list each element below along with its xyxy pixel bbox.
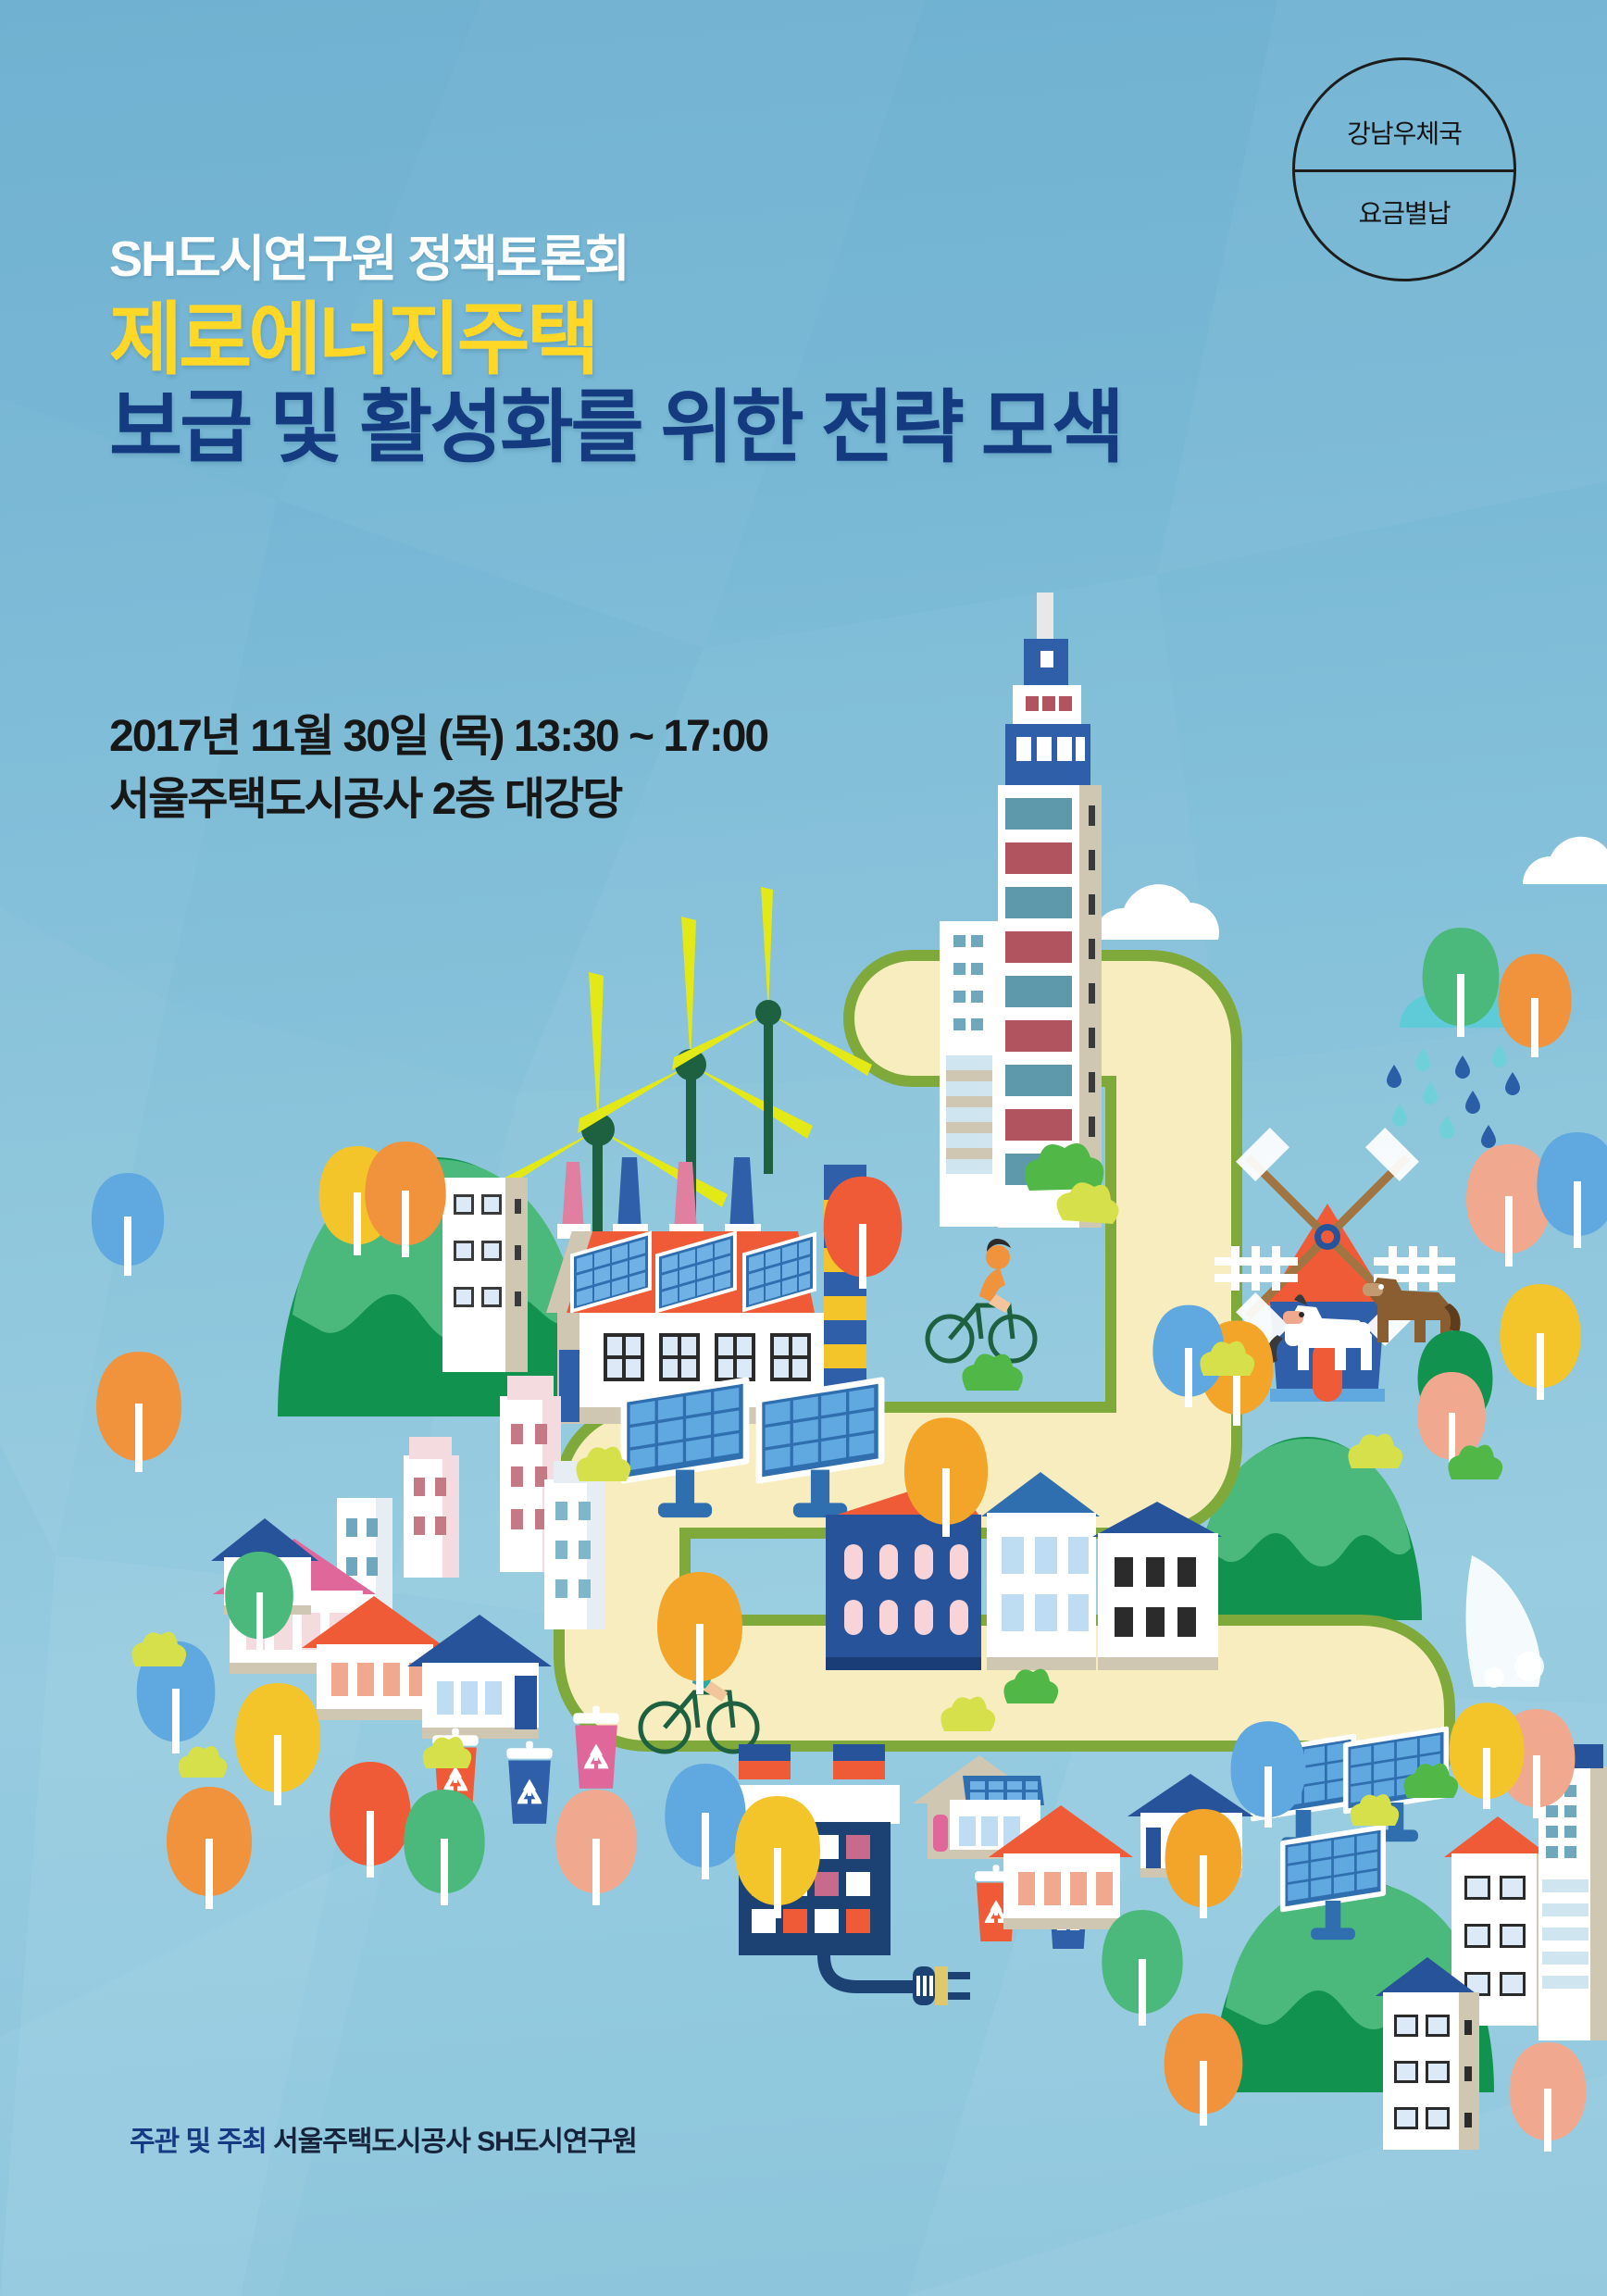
stamp-postage-type: 요금별납 bbox=[1295, 193, 1514, 231]
organizer-credit: 주관 및 주최 서울주택도시공사 SH도시연구원 bbox=[130, 2118, 637, 2159]
poster-canvas: 강남우체국 요금별납 SH도시연구원 정책토론회 제로에너지주택 보급 및 활성… bbox=[0, 0, 1607, 2296]
title-line-main: 보급 및 활성화를 위한 전략 모색 bbox=[109, 382, 1359, 475]
event-details: 2017년 11월 30일 (목) 13:30 ~ 17:00 서울주택도시공사… bbox=[109, 705, 1220, 831]
title-line-highlight: 제로에너지주택 bbox=[109, 298, 1359, 382]
organizer-label: 주관 및 주최 bbox=[130, 2127, 267, 2157]
event-kicker: SH도시연구원 정책토론회 bbox=[109, 233, 1359, 285]
event-venue: 서울주택도시공사 2층 대강당 bbox=[109, 768, 1220, 831]
stamp-divider bbox=[1295, 169, 1514, 172]
stamp-office-name: 강남우체국 bbox=[1295, 114, 1514, 151]
event-datetime: 2017년 11월 30일 (목) 13:30 ~ 17:00 bbox=[109, 705, 1220, 768]
organizer-names: 서울주택도시공사 SH도시연구원 bbox=[273, 2127, 637, 2157]
headline-block: SH도시연구원 정책토론회 제로에너지주택 보급 및 활성화를 위한 전략 모색 bbox=[109, 233, 1359, 475]
